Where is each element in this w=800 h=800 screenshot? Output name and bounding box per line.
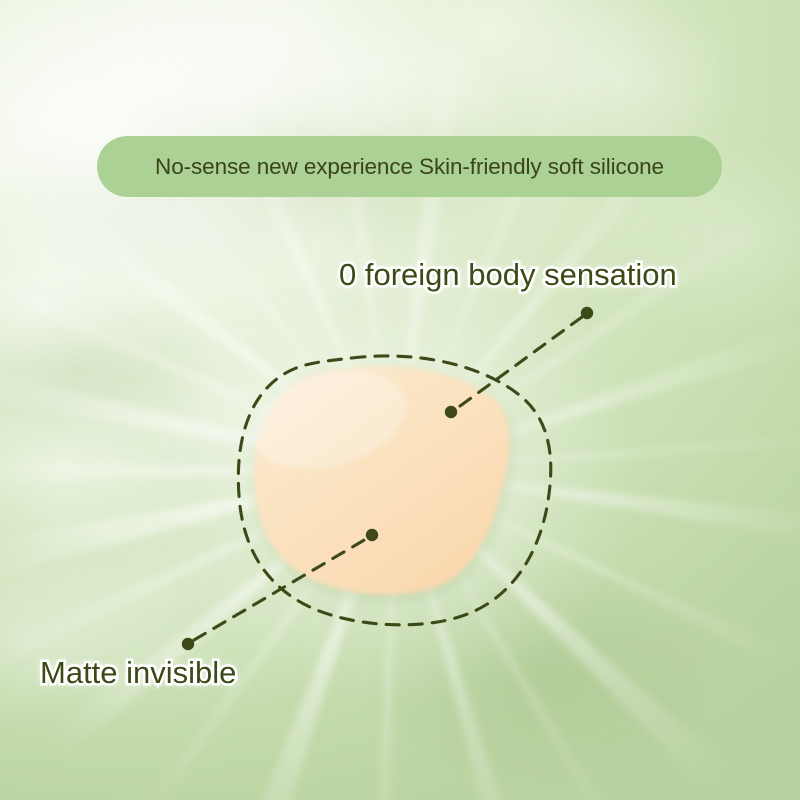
callout-label-foreign-body: 0 foreign body sensation <box>339 259 677 290</box>
leader-dot-outer <box>182 638 194 650</box>
leader-dot-outer <box>581 307 593 319</box>
leader-dot-inner <box>366 529 378 541</box>
callout-label-matte-invisible: Matte invisible <box>40 657 236 688</box>
product-feature-graphic: No-sense new experience Skin-friendly so… <box>0 0 800 800</box>
silicone-pad <box>242 354 509 594</box>
leader-dot-inner <box>445 406 457 418</box>
leader-line-foreign-body <box>445 307 593 418</box>
